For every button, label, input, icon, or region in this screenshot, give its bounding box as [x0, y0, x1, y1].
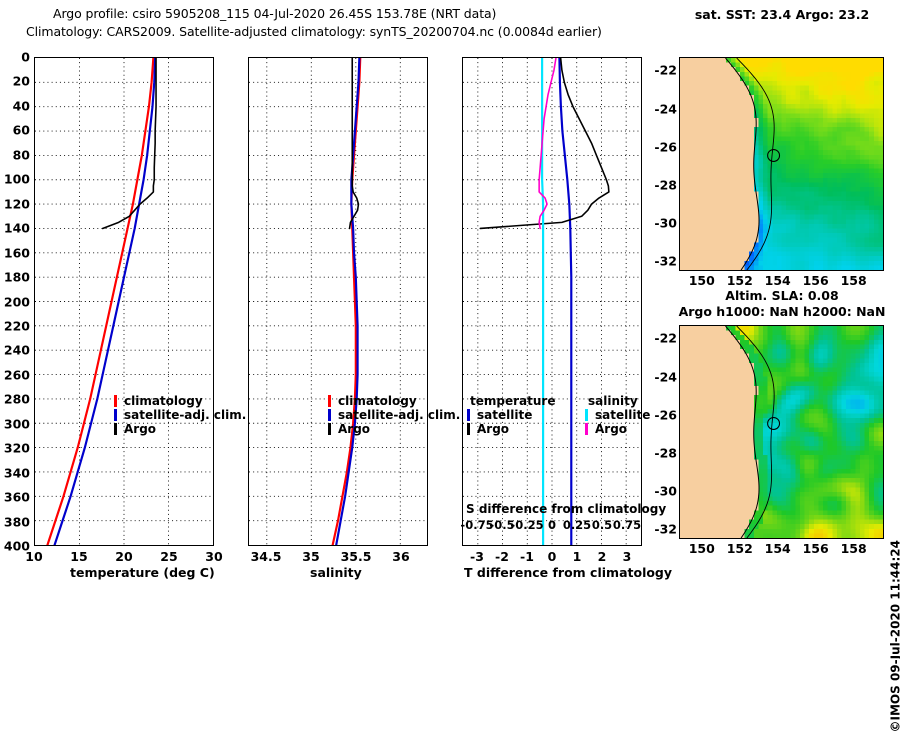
axis-tick-label: 20: [115, 549, 132, 564]
map-latitude-tick: -30: [649, 216, 677, 231]
depth-tick-label: 320: [0, 441, 30, 456]
salinity-plot-legend: climatologysatellite-adj. clim.Argo: [327, 394, 460, 436]
depth-tick-label: 160: [0, 245, 30, 260]
salinity-profile-plot: [248, 57, 428, 546]
depth-tick-label: 360: [0, 490, 30, 505]
legend-group-title: salinity: [584, 394, 650, 408]
axis-tick-label: 30: [205, 549, 222, 564]
difference-profile-plot: [462, 57, 642, 546]
legend-color-swatch: [328, 423, 331, 435]
temperature-profile-plot: [34, 57, 214, 546]
legend-item: Argo: [466, 422, 555, 436]
axis-tick-label: 3: [623, 549, 632, 564]
axis-tick-label: 36: [392, 549, 409, 564]
depth-tick-label: 340: [0, 465, 30, 480]
temperature-difference-axis-label: T difference from climatology: [464, 565, 672, 580]
legend-label: climatology: [338, 394, 417, 408]
axis-tick-label: -3: [470, 549, 484, 564]
map-latitude-tick: -28: [649, 178, 677, 193]
map-longitude-tick: 154: [765, 273, 791, 288]
legend-label: Argo: [338, 422, 370, 436]
map-latitude-tick: -28: [649, 446, 677, 461]
axis-tick-label: 15: [70, 549, 87, 564]
legend-item: Argo: [113, 422, 246, 436]
axis-tick-label: -0.25: [510, 518, 543, 532]
salinity-axis-label: salinity: [310, 565, 362, 580]
map-longitude-tick: 152: [727, 541, 753, 556]
legend-item: satellite: [584, 408, 650, 422]
legend-label: satellite: [595, 408, 650, 422]
legend-color-swatch: [114, 423, 117, 435]
map-latitude-tick: -26: [649, 139, 677, 154]
legend-color-swatch: [585, 409, 588, 421]
map-latitude-tick: -24: [649, 101, 677, 116]
map-longitude-tick: 152: [727, 273, 753, 288]
temperature-plot-legend: climatologysatellite-adj. clim.Argo: [113, 394, 246, 436]
legend-item: climatology: [113, 394, 246, 408]
axis-tick-label: 34.5: [251, 549, 282, 564]
depth-tick-label: 300: [0, 416, 30, 431]
sla-map-header-line2: Argo h1000: NaN h2000: NaN: [679, 304, 886, 319]
depth-tick-label: 20: [0, 74, 30, 89]
legend-label: satellite-adj. clim.: [338, 408, 460, 422]
temperature-axis-label: temperature (deg C): [70, 565, 215, 580]
axis-tick-label: 35: [302, 549, 319, 564]
difference-plot-legend-salinity: salinitysatelliteArgo: [584, 394, 650, 436]
page-title-line1: Argo profile: csiro 5905208_115 04-Jul-2…: [53, 6, 496, 21]
depth-tick-label: 180: [0, 270, 30, 285]
map-longitude-tick: 150: [689, 541, 715, 556]
map-longitude-tick: 154: [765, 541, 791, 556]
depth-tick-label: 240: [0, 343, 30, 358]
map-longitude-tick: 156: [803, 273, 829, 288]
legend-item: satellite: [466, 408, 555, 422]
map-latitude-tick: -30: [649, 484, 677, 499]
legend-color-swatch: [328, 395, 331, 407]
map-longitude-tick: 150: [689, 273, 715, 288]
axis-tick-label: 0: [548, 518, 556, 532]
map-latitude-tick: -32: [649, 254, 677, 269]
legend-item: climatology: [327, 394, 460, 408]
map-latitude-tick: -26: [649, 407, 677, 422]
map-longitude-tick: 158: [841, 541, 867, 556]
legend-item: satellite-adj. clim.: [327, 408, 460, 422]
map-longitude-tick: 158: [841, 273, 867, 288]
depth-tick-label: 400: [0, 539, 30, 554]
copyright-notice: ©IMOS 09-Jul-2020 11:44:24: [888, 540, 900, 732]
sst-map: [679, 57, 884, 271]
axis-tick-label: 0.75: [613, 518, 641, 532]
legend-label: Argo: [595, 422, 627, 436]
axis-tick-label: 0: [548, 549, 557, 564]
map-latitude-tick: -22: [649, 331, 677, 346]
legend-color-swatch: [114, 409, 117, 421]
sst-map-header: sat. SST: 23.4 Argo: 23.2: [695, 7, 869, 22]
sla-map-header-line1: Altim. SLA: 0.08: [725, 288, 838, 303]
map-longitude-tick: 156: [803, 541, 829, 556]
legend-color-swatch: [467, 423, 470, 435]
difference-plot-legend-temperature: temperaturesatelliteArgo: [466, 394, 555, 436]
legend-color-swatch: [328, 409, 331, 421]
depth-tick-label: 80: [0, 147, 30, 162]
page-title-line2: Climatology: CARS2009. Satellite-adjuste…: [26, 24, 602, 39]
depth-tick-label: 280: [0, 392, 30, 407]
legend-item: satellite-adj. clim.: [113, 408, 246, 422]
depth-tick-label: 100: [0, 172, 30, 187]
map-latitude-tick: -22: [649, 63, 677, 78]
legend-label: satellite-adj. clim.: [124, 408, 246, 422]
axis-tick-label: -1: [520, 549, 534, 564]
salinity-difference-axis-label: S difference from climatology: [466, 502, 666, 516]
legend-item: Argo: [584, 422, 650, 436]
map-latitude-tick: -32: [649, 522, 677, 537]
depth-tick-label: 60: [0, 123, 30, 138]
depth-tick-label: 260: [0, 367, 30, 382]
depth-tick-label: 200: [0, 294, 30, 309]
depth-tick-label: 40: [0, 98, 30, 113]
depth-tick-label: 140: [0, 221, 30, 236]
axis-tick-label: 1: [573, 549, 582, 564]
legend-label: satellite: [477, 408, 532, 422]
axis-tick-label: -2: [495, 549, 509, 564]
axis-tick-label: 2: [598, 549, 607, 564]
axis-tick-label: 0.25: [563, 518, 591, 532]
axis-tick-label: 0.5: [592, 518, 612, 532]
legend-color-swatch: [467, 409, 470, 421]
depth-tick-label: 0: [0, 50, 30, 65]
legend-label: climatology: [124, 394, 203, 408]
depth-tick-label: 220: [0, 318, 30, 333]
axis-tick-label: 35.5: [341, 549, 372, 564]
legend-color-swatch: [585, 423, 588, 435]
legend-item: Argo: [327, 422, 460, 436]
legend-group-title: temperature: [466, 394, 555, 408]
depth-tick-label: 120: [0, 196, 30, 211]
legend-color-swatch: [114, 395, 117, 407]
depth-tick-label: 380: [0, 514, 30, 529]
legend-label: Argo: [477, 422, 509, 436]
map-latitude-tick: -24: [649, 369, 677, 384]
sla-map: [679, 325, 884, 539]
axis-tick-label: 25: [160, 549, 177, 564]
legend-label: Argo: [124, 422, 156, 436]
